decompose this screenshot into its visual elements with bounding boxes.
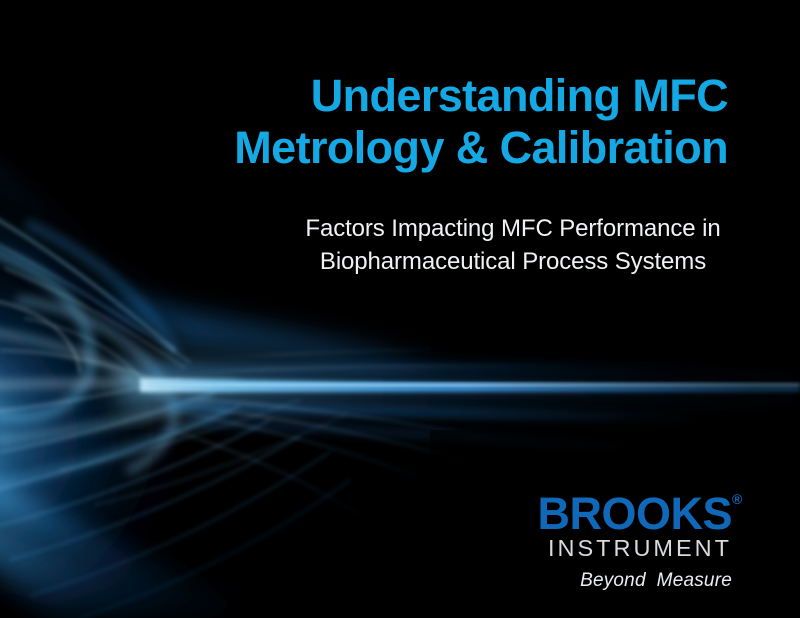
slide-title-line-1: Understanding MFC xyxy=(100,70,728,122)
brooks-instrument-logo: BROOKS® INSTRUMENT Beyond Measure xyxy=(520,494,732,592)
slide-title-line-2: Metrology & Calibration xyxy=(100,122,728,174)
logo-wordmark: BROOKS® xyxy=(520,494,732,534)
slide-subtitle: Factors Impacting MFC Performance in Bio… xyxy=(253,212,773,278)
slide-title: Understanding MFC Metrology & Calibratio… xyxy=(100,70,728,174)
registered-trademark-icon: ® xyxy=(732,492,742,506)
slide-subtitle-line-1: Factors Impacting MFC Performance in xyxy=(253,212,773,245)
logo-tagline: Beyond Measure xyxy=(520,570,732,592)
slide-subtitle-line-2: Biopharmaceutical Process Systems xyxy=(253,245,773,278)
presentation-title-slide: Understanding MFC Metrology & Calibratio… xyxy=(0,0,800,618)
logo-wordmark-text: BROOKS xyxy=(537,488,732,539)
